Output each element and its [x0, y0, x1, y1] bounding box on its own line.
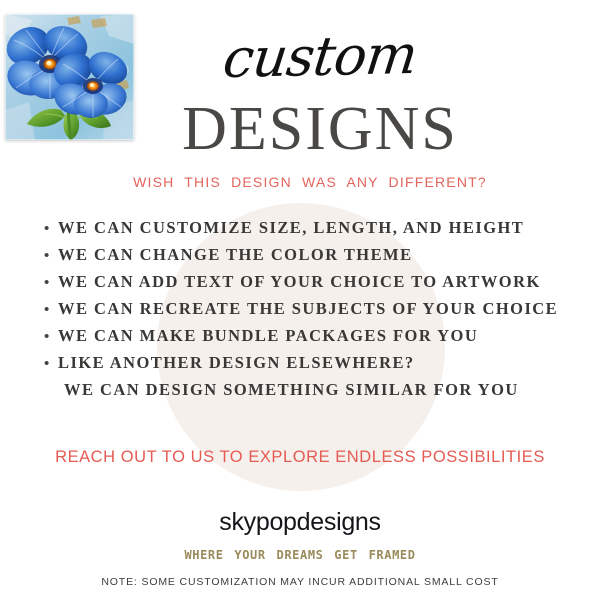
list-item: •WE CAN CHANGE THE COLOR THEME: [44, 241, 589, 268]
bullet-dot-icon: •: [44, 269, 58, 296]
list-item: •WE CAN CUSTOMIZE SIZE, LENGTH, AND HEIG…: [44, 214, 589, 241]
list-item: •WE CAN ADD TEXT OF YOUR CHOICE TO ARTWO…: [44, 268, 589, 295]
list-item-label: WE CAN CHANGE THE COLOR THEME: [58, 241, 413, 268]
bullet-dot-icon: •: [44, 296, 58, 323]
heading-main-designs: DESIGNS: [140, 96, 500, 162]
heading-subtitle: WISH THIS DESIGN WAS ANY DIFFERENT?: [60, 174, 560, 190]
list-item-label: LIKE ANOTHER DESIGN ELSEWHERE?: [58, 349, 415, 376]
list-item: •LIKE ANOTHER DESIGN ELSEWHERE?: [44, 349, 589, 376]
bullet-dot-icon: •: [44, 323, 58, 350]
list-item: •WE CAN RECREATE THE SUBJECTS OF YOUR CH…: [44, 295, 589, 322]
customization-options-list: •WE CAN CUSTOMIZE SIZE, LENGTH, AND HEIG…: [44, 214, 589, 403]
list-item-label: WE CAN DESIGN SOMETHING SIMILAR FOR YOU: [58, 376, 519, 403]
blue-pansy-painting-thumbnail[interactable]: [5, 14, 134, 140]
list-item-label: WE CAN MAKE BUNDLE PACKAGES FOR YOU: [58, 322, 478, 349]
bullet-dot-icon: •: [44, 350, 58, 377]
list-item-label: WE CAN CUSTOMIZE SIZE, LENGTH, AND HEIGH…: [58, 214, 524, 241]
call-to-action-text: REACH OUT TO US TO EXPLORE ENDLESS POSSI…: [0, 448, 600, 467]
disclaimer-note: NOTE: SOME CUSTOMIZATION MAY INCUR ADDIT…: [0, 576, 600, 588]
brand-tagline: WHERE YOUR DREAMS GET FRAMED: [0, 548, 600, 562]
bullet-dot-icon: •: [44, 215, 58, 242]
brand-name: skypopdesigns: [0, 508, 600, 537]
list-item: WE CAN DESIGN SOMETHING SIMILAR FOR YOU: [44, 376, 589, 403]
list-item: •WE CAN MAKE BUNDLE PACKAGES FOR YOU: [44, 322, 589, 349]
list-item-label: WE CAN ADD TEXT OF YOUR CHOICE TO ARTWOR…: [58, 268, 541, 295]
pansy-artwork-icon: [5, 14, 134, 140]
poster-canvas: custom DESIGNS WISH THIS DESIGN WAS ANY …: [0, 0, 600, 600]
list-item-label: WE CAN RECREATE THE SUBJECTS OF YOUR CHO…: [58, 295, 558, 322]
heading-script-custom: custom: [146, 22, 494, 91]
bullet-dot-icon: •: [44, 242, 58, 269]
